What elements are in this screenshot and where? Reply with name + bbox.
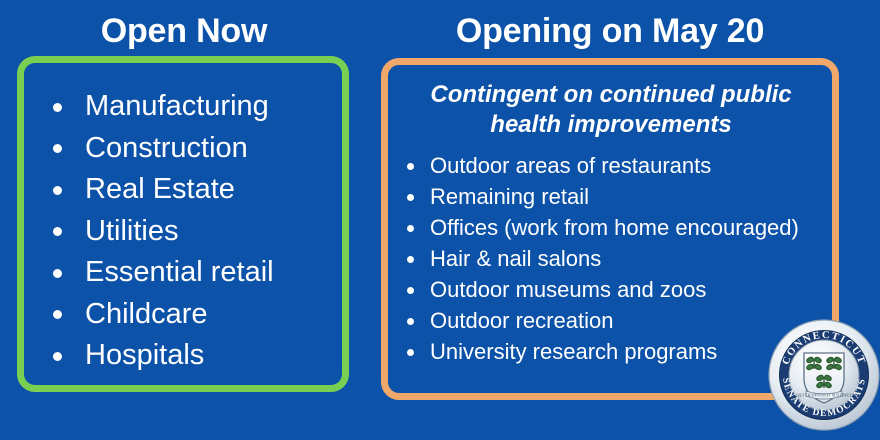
right-panel-subtitle: Contingent on continued public health im… — [396, 80, 826, 140]
bullet-icon — [407, 194, 414, 201]
bullet-icon — [407, 163, 414, 170]
list-item: Construction — [46, 128, 346, 170]
list-item-label: Remaining retail — [430, 184, 589, 209]
bullet-icon — [53, 269, 62, 278]
subtitle-line-2: health improvements — [396, 110, 826, 140]
list-item-label: Childcare — [85, 298, 208, 330]
list-item: Hospitals — [46, 335, 346, 377]
list-item: Real Estate — [46, 169, 346, 211]
seal-motto: QUI TRANSTULIT SUSTINET — [797, 392, 852, 397]
list-item: Manufacturing — [46, 86, 346, 128]
right-column-heading: Opening on May 20 — [382, 12, 838, 50]
list-item-label: Utilities — [85, 215, 178, 247]
list-item-label: Essential retail — [85, 256, 274, 288]
bullet-icon — [53, 186, 62, 195]
list-item: Offices (work from home encouraged) — [402, 212, 832, 243]
list-item: Childcare — [46, 294, 346, 336]
connecticut-senate-democrats-seal-icon: CONNECTICUT SENATE DEMOCRATS — [767, 317, 880, 433]
bullet-icon — [407, 287, 414, 294]
bullet-icon — [407, 225, 414, 232]
bullet-icon — [407, 318, 414, 325]
list-item: Utilities — [46, 211, 346, 253]
bullet-icon — [53, 310, 62, 319]
open-now-list: Manufacturing Construction Real Estate U… — [46, 86, 346, 377]
list-item-label: Real Estate — [85, 173, 235, 205]
left-column-heading: Open Now — [14, 12, 354, 50]
list-item-label: Outdoor recreation — [430, 308, 613, 333]
bullet-icon — [407, 256, 414, 263]
list-item: Outdoor areas of restaurants — [402, 150, 832, 181]
list-item-label: Manufacturing — [85, 90, 269, 122]
subtitle-line-1: Contingent on continued public — [396, 80, 826, 110]
list-item-label: Hospitals — [85, 339, 204, 371]
list-item: Remaining retail — [402, 181, 832, 212]
list-item-label: Offices (work from home encouraged) — [430, 215, 799, 240]
bullet-icon — [53, 103, 62, 112]
list-item: Hair & nail salons — [402, 243, 832, 274]
list-item-label: Hair & nail salons — [430, 246, 601, 271]
list-item-label: Construction — [85, 132, 248, 164]
list-item-label: Outdoor museums and zoos — [430, 277, 706, 302]
bullet-icon — [53, 227, 62, 236]
list-item-label: University research programs — [430, 339, 717, 364]
bullet-icon — [53, 144, 62, 153]
bullet-icon — [407, 349, 414, 356]
list-item-label: Outdoor areas of restaurants — [430, 153, 711, 178]
bullet-icon — [53, 352, 62, 361]
list-item: Outdoor museums and zoos — [402, 274, 832, 305]
infographic-slide: Open Now Manufacturing Construction Real… — [0, 0, 880, 440]
list-item: Essential retail — [46, 252, 346, 294]
